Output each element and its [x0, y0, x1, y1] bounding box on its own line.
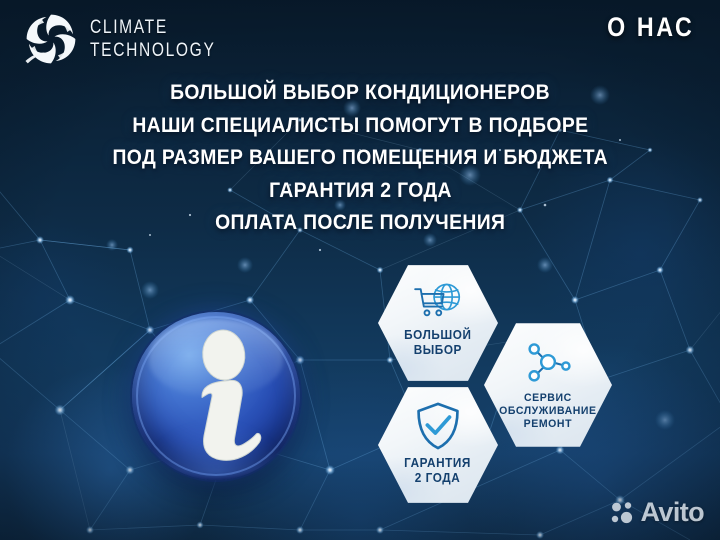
shield-check-icon	[415, 401, 461, 451]
badge-label-line-1: ГАРАНТИЯ	[405, 456, 472, 471]
badge-label-line-3: РЕМОНТ	[499, 418, 597, 431]
info-glyph	[132, 312, 300, 480]
badge-label-line-1: СЕРВИС	[499, 392, 597, 405]
avito-dots-icon	[609, 500, 635, 526]
headline-line-3: ПОД РАЗМЕР ВАШЕГО ПОМЕЩЕНИЯ И БЮДЖЕТА	[112, 147, 607, 169]
brand-line-2: TECHNOLOGY	[90, 41, 215, 60]
avito-watermark: Avito	[609, 497, 705, 528]
sphere-body	[132, 312, 300, 480]
letter-i-icon	[132, 312, 300, 480]
headline-line-5: ОПЛАТА ПОСЛЕ ПОЛУЧЕНИЯ	[215, 212, 505, 234]
badge-label-line-2: ОБСЛУЖИВАНИЕ	[499, 405, 597, 418]
badge-label: БОЛЬШОЙ ВЫБОР	[402, 328, 474, 358]
fan-spiral-icon	[22, 10, 80, 68]
headline-line-1: БОЛЬШОЙ ВЫБОР КОНДИЦИОНЕРОВ	[170, 82, 550, 104]
badge-label-line-2: ВЫБОР	[404, 343, 471, 358]
headline-line-2: НАШИ СПЕЦИАЛИСТЫ ПОМОГУТ В ПОДБОРЕ	[132, 115, 588, 137]
badge-label: СЕРВИС ОБСЛУЖИВАНИЕ РЕМОНТ	[496, 392, 600, 432]
promo-banner: CLIMATE TECHNOLOGY О НАС БОЛЬШОЙ ВЫБОР К…	[0, 0, 720, 540]
badge-warranty[interactable]: ГАРАНТИЯ 2 ГОДА	[378, 386, 498, 504]
headline-line-4: ГАРАНТИЯ 2 ГОДА	[269, 180, 452, 202]
info-sphere	[130, 310, 306, 486]
network-node-icon	[522, 340, 574, 384]
page-title: О НАС	[607, 12, 694, 43]
badge-label-line-1: БОЛЬШОЙ	[404, 328, 471, 343]
brand-line-1: CLIMATE	[90, 18, 215, 37]
cart-globe-icon	[412, 281, 464, 321]
badge-label-line-2: 2 ГОДА	[405, 471, 472, 486]
brand-wordmark: CLIMATE TECHNOLOGY	[90, 18, 243, 60]
brand-logo: CLIMATE TECHNOLOGY	[22, 10, 243, 68]
badge-big-choice[interactable]: БОЛЬШОЙ ВЫБОР	[378, 264, 498, 382]
badge-label: ГАРАНТИЯ 2 ГОДА	[402, 456, 473, 486]
badge-service-repair[interactable]: СЕРВИС ОБСЛУЖИВАНИЕ РЕМОНТ	[484, 322, 612, 448]
avito-wordmark: Avito	[641, 497, 705, 528]
headline-block: БОЛЬШОЙ ВЫБОР КОНДИЦИОНЕРОВ НАШИ СПЕЦИАЛ…	[0, 82, 720, 245]
